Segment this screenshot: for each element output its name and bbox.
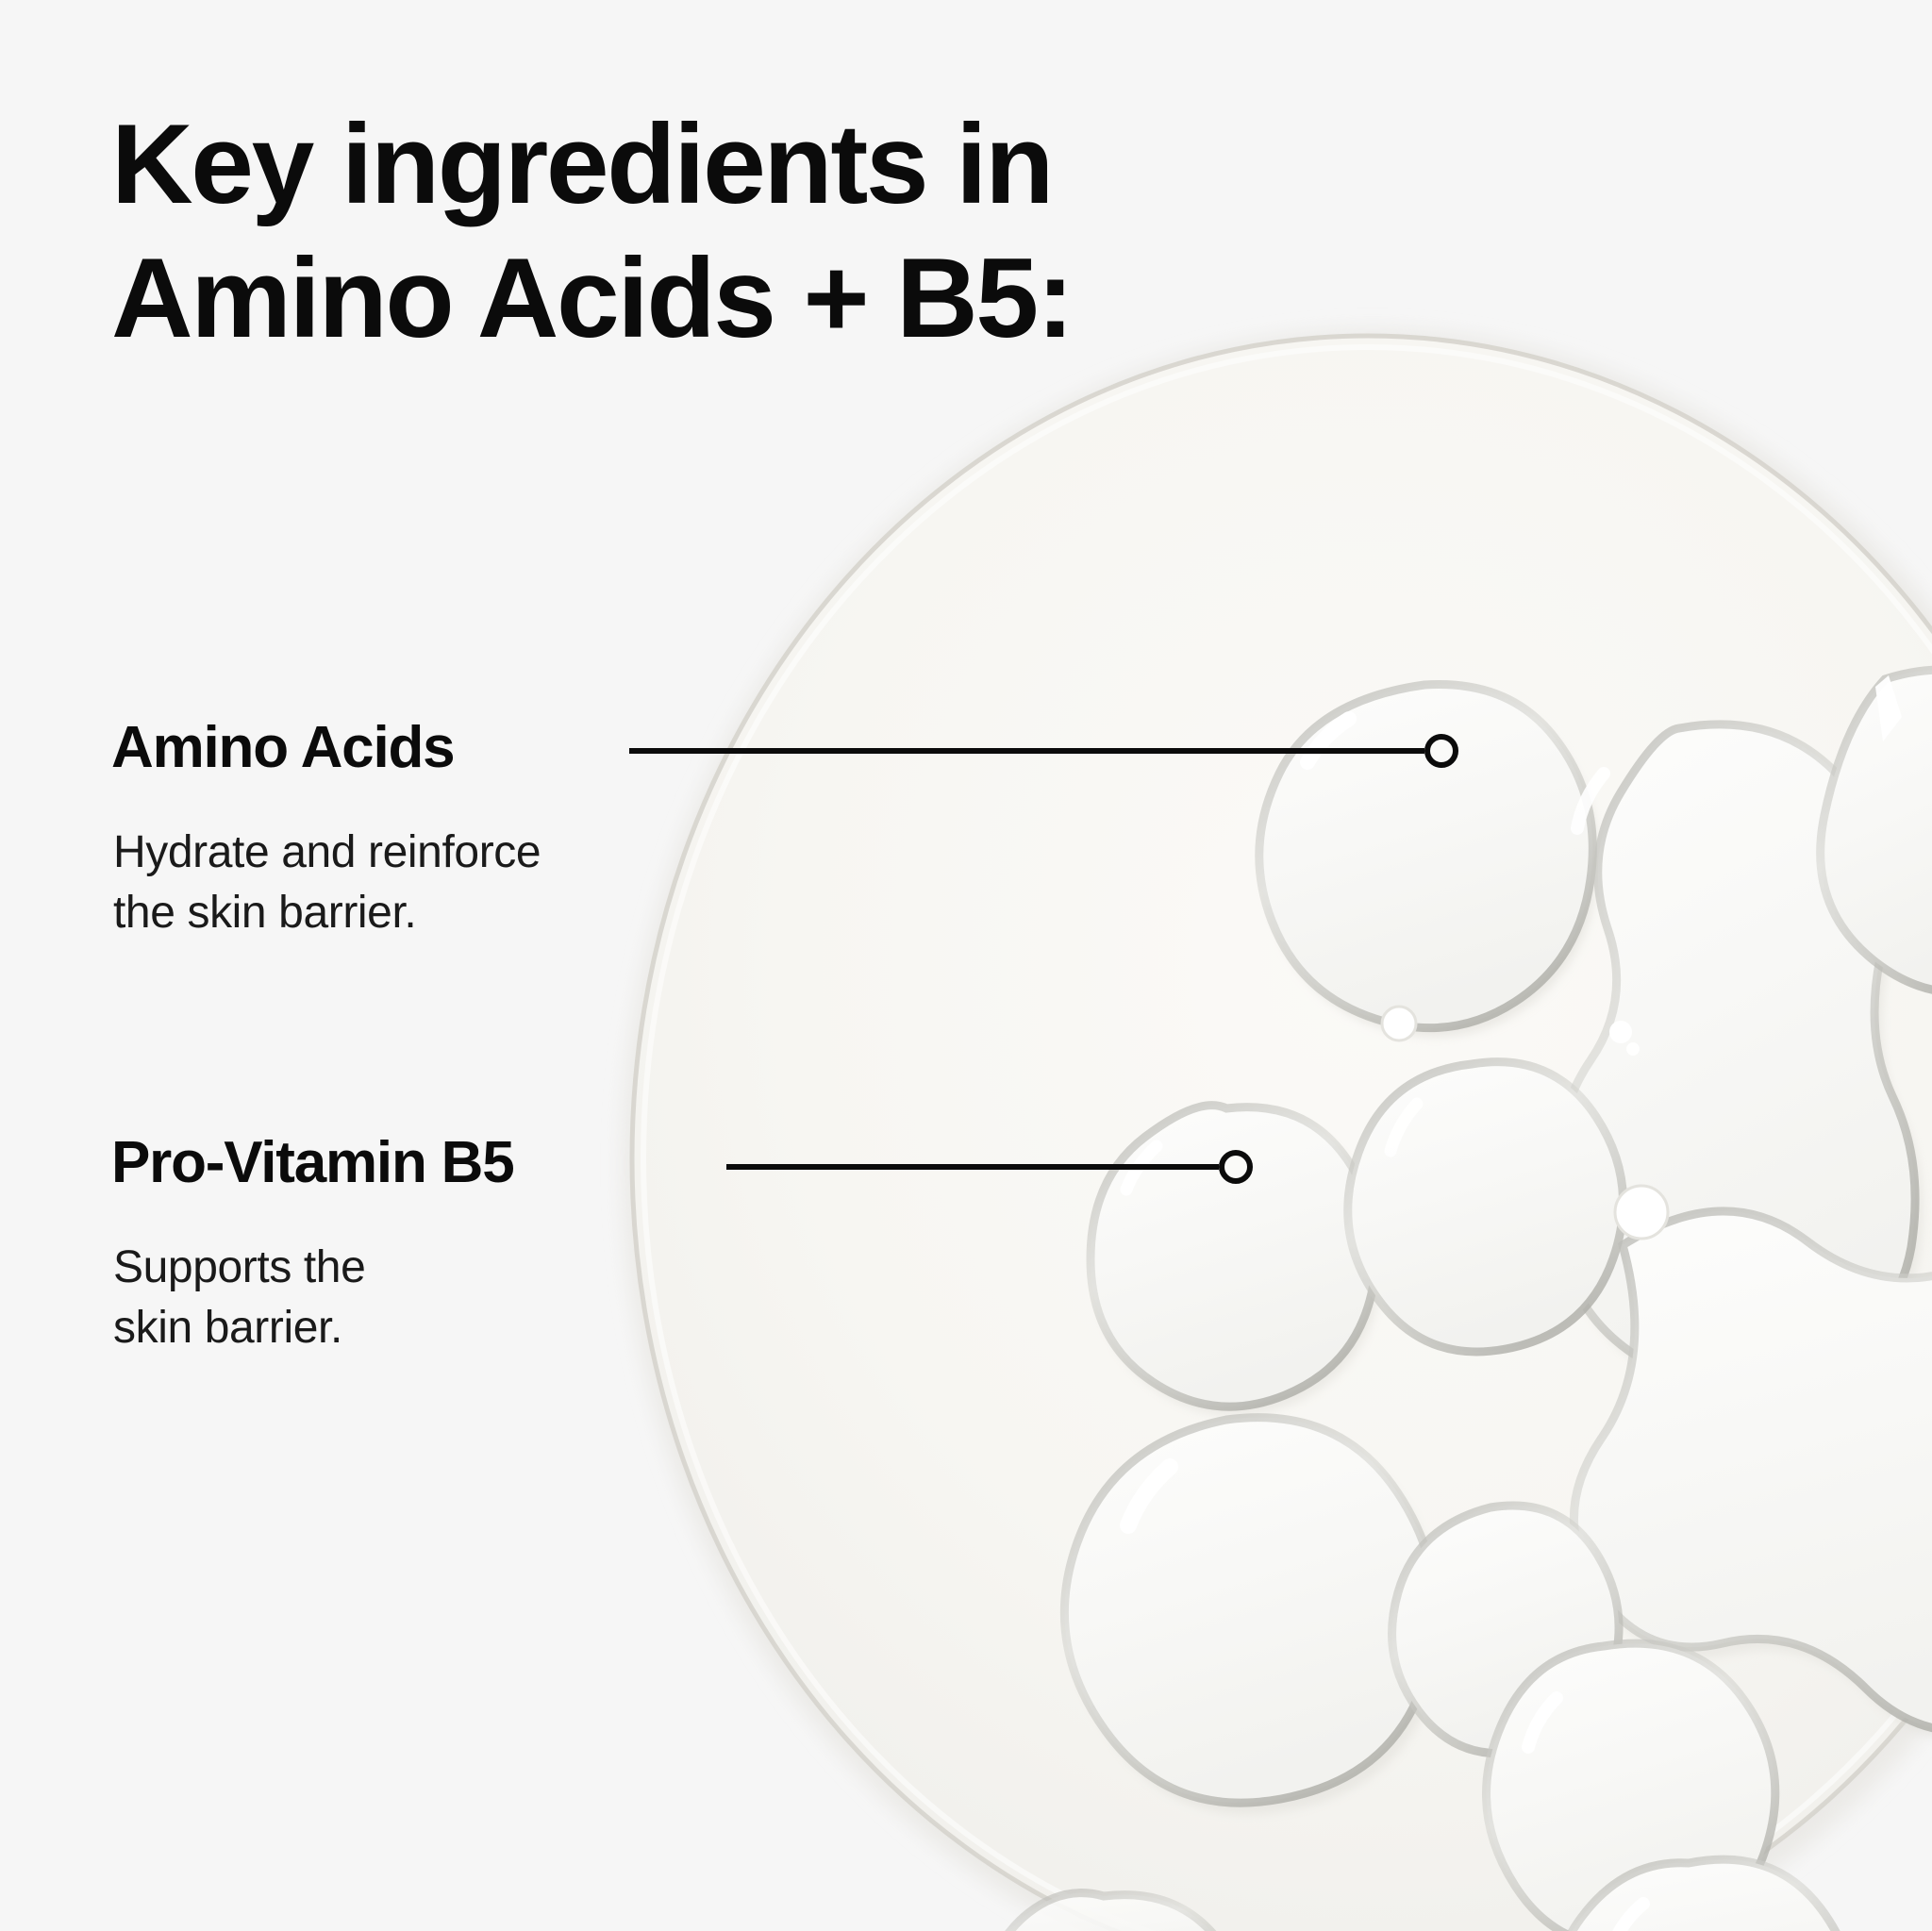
callout-description-amino-acids: Hydrate and reinforce the skin barrier. (113, 823, 541, 943)
callout-amino-acids: Amino Acids Hydrate and reinforce the sk… (111, 717, 715, 1019)
leader-dot-amino-acids (1424, 734, 1458, 768)
callout-description-pro-vitamin-b5: Supports the skin barrier. (113, 1238, 365, 1358)
leader-line-pro-vitamin-b5 (726, 1164, 1219, 1170)
page-title: Key ingredients in Amino Acids + B5: (111, 98, 1224, 365)
leader-dot-pro-vitamin-b5 (1219, 1150, 1253, 1184)
serum-pool-shape (623, 330, 1932, 1931)
callout-pro-vitamin-b5: Pro-Vitamin B5 Supports the skin barrier… (111, 1132, 772, 1434)
leader-line-amino-acids (629, 748, 1424, 754)
ingredient-infographic: Key ingredients in Amino Acids + B5: Ami… (0, 0, 1932, 1931)
callout-title-pro-vitamin-b5: Pro-Vitamin B5 (111, 1132, 514, 1193)
serum-droplets (979, 670, 1932, 1931)
callout-title-amino-acids: Amino Acids (111, 717, 454, 778)
